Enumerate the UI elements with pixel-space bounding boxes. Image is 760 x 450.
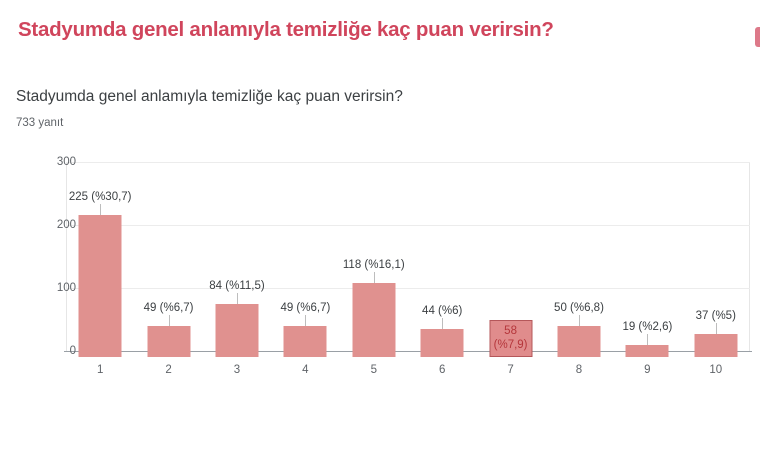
bar-value-label-inside: 58(%7,9) bbox=[494, 324, 528, 352]
bar-group: 50 (%6,8)8 bbox=[545, 168, 613, 357]
bar-value-label: 44 (%6) bbox=[422, 305, 462, 317]
bar-group: 58(%7,9)7 bbox=[476, 168, 544, 357]
bar-label-stem bbox=[237, 293, 238, 304]
bar[interactable] bbox=[557, 326, 600, 358]
bar-label-stem bbox=[647, 334, 648, 345]
bar-group: 49 (%6,7)2 bbox=[134, 168, 202, 357]
x-axis-tick-label: 8 bbox=[576, 364, 582, 376]
gridline bbox=[66, 162, 750, 163]
bar-value-label: 19 (%2,6) bbox=[622, 321, 672, 333]
bar-group: 44 (%6)6 bbox=[408, 168, 476, 357]
bar-group: 84 (%11,5)3 bbox=[203, 168, 271, 357]
bar-label-stem bbox=[305, 315, 306, 326]
bar[interactable] bbox=[147, 326, 190, 357]
bar-group: 37 (%5)10 bbox=[682, 168, 750, 357]
x-axis-tick-label: 10 bbox=[709, 364, 722, 376]
x-axis-tick-label: 6 bbox=[439, 364, 445, 376]
bar-value-label: 49 (%6,7) bbox=[144, 302, 194, 314]
bar-label-stem bbox=[579, 315, 580, 326]
bar-value-label: 37 (%5) bbox=[696, 310, 736, 322]
bar[interactable] bbox=[694, 334, 737, 357]
bar-value-label: 118 (%16,1) bbox=[343, 259, 405, 271]
x-axis-tick-label: 7 bbox=[507, 364, 513, 376]
bar-value-label: 50 (%6,8) bbox=[554, 302, 604, 314]
bar-group: 49 (%6,7)4 bbox=[271, 168, 339, 357]
chart-card: Stadyumda genel anlamıyla temizliğe kaç … bbox=[0, 62, 760, 450]
x-axis-tick-label: 5 bbox=[371, 364, 377, 376]
bar[interactable] bbox=[352, 283, 395, 357]
bar[interactable] bbox=[421, 329, 464, 357]
bar-group: 118 (%16,1)5 bbox=[340, 168, 408, 357]
bar[interactable] bbox=[284, 326, 327, 357]
x-axis-tick-label: 4 bbox=[302, 364, 308, 376]
bar-value-label: 84 (%11,5) bbox=[209, 280, 264, 292]
bar-label-stem bbox=[374, 272, 375, 283]
bar-label-stem bbox=[100, 204, 101, 215]
bar-value-label: 49 (%6,7) bbox=[280, 302, 330, 314]
page-title: Stadyumda genel anlamıyla temizliğe kaç … bbox=[18, 18, 554, 42]
chart-title: Stadyumda genel anlamıyla temizliğe kaç … bbox=[16, 88, 403, 106]
x-axis-tick-label: 1 bbox=[97, 364, 103, 376]
bar-label-stem bbox=[442, 318, 443, 329]
bar-value-label-line: (%7,9) bbox=[494, 338, 528, 352]
bar-label-stem bbox=[169, 315, 170, 326]
bar[interactable] bbox=[215, 304, 258, 357]
bar[interactable] bbox=[626, 345, 669, 357]
x-axis-tick-label: 3 bbox=[234, 364, 240, 376]
bar-chart-plot-area: 0100200300 225 (%30,7)149 (%6,7)284 (%11… bbox=[66, 162, 750, 357]
x-axis-tick-label: 2 bbox=[165, 364, 171, 376]
page-header: Stadyumda genel anlamıyla temizliğe kaç … bbox=[0, 0, 760, 62]
bar-value-label: 225 (%30,7) bbox=[69, 191, 132, 203]
x-axis-tick-label: 9 bbox=[644, 364, 650, 376]
bar-label-stem bbox=[716, 323, 717, 334]
bar-group: 225 (%30,7)1 bbox=[66, 168, 134, 357]
bar-group: 19 (%2,6)9 bbox=[613, 168, 681, 357]
y-axis-tick-label: 300 bbox=[30, 156, 76, 168]
chart-response-count: 733 yanıt bbox=[16, 117, 63, 129]
bar-value-label-line: 58 bbox=[494, 324, 528, 338]
bar[interactable] bbox=[79, 215, 122, 357]
edge-accent-marker bbox=[755, 27, 760, 47]
